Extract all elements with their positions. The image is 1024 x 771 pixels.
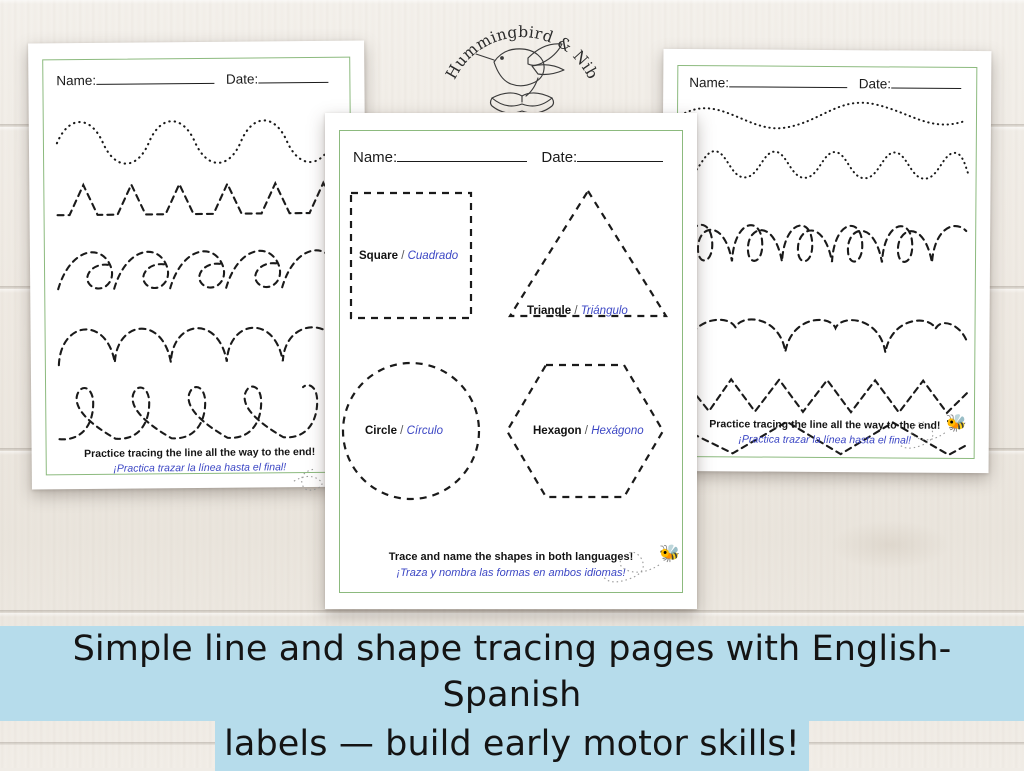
svg-text:Hummingbird & Nib: Hummingbird & Nib	[442, 23, 602, 82]
brand-logo: Hummingbird & Nib	[432, 2, 612, 112]
promo-caption: Simple line and shape tracing pages with…	[0, 626, 1024, 771]
worksheet-left-lines[interactable]: Name: Date: Practice tracing the line al…	[28, 41, 368, 490]
caption-line-2: labels — build early motor skills!	[215, 721, 809, 771]
bee-trail-left	[28, 41, 368, 490]
worksheet-center-shapes[interactable]: Name: Date: Square / Cuadrado Triangle /…	[325, 113, 697, 609]
brand-name-text: Hummingbird & Nib	[442, 23, 602, 82]
worksheet-right-lines[interactable]: Name: Date: Practice tracing the line al…	[661, 49, 992, 473]
bee-trail-center	[325, 113, 697, 609]
caption-line-1: Simple line and shape tracing pages with…	[0, 626, 1024, 721]
bee-trail-right	[661, 49, 992, 473]
